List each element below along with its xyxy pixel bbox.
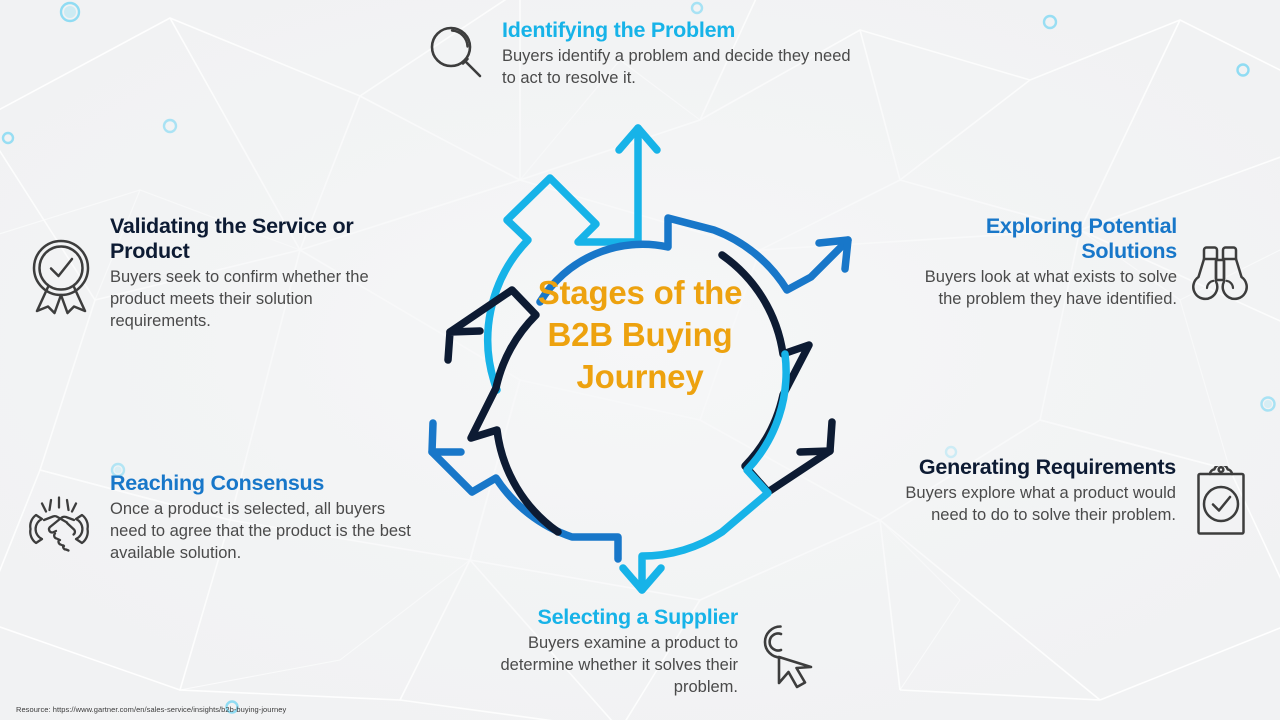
center-title-line-2: B2B Buying <box>490 314 790 356</box>
stage-title: Validating the Service or Product <box>110 214 378 264</box>
stage-description: Once a product is selected, all buyers n… <box>110 499 422 565</box>
cursor-click-icon <box>757 612 837 692</box>
stage-description: Buyers look at what exists to solve the … <box>905 267 1177 311</box>
handshake-icon <box>22 493 96 555</box>
wheel-segment-reaching <box>432 423 618 559</box>
stage-title: Identifying the Problem <box>502 18 862 43</box>
stage-exploring-potential-solutions: Exploring Potential Solutions Buyers loo… <box>905 214 1177 311</box>
stage-description: Buyers seek to confirm whether the produ… <box>110 267 378 333</box>
stage-reaching-consensus: Reaching Consensus Once a product is sel… <box>110 471 422 565</box>
award-check-icon <box>28 237 94 315</box>
stage-identifying-the-problem: Identifying the Problem Buyers identify … <box>502 18 862 90</box>
stage-description: Buyers explore what a product would need… <box>878 483 1176 527</box>
stage-title: Generating Requirements <box>878 455 1176 480</box>
clipboard-check-icon <box>1192 466 1250 540</box>
binoculars-icon <box>1188 243 1252 301</box>
center-title-line-1: Stages of the <box>490 272 790 314</box>
magnifier-icon <box>426 22 488 84</box>
stage-validating-the-service-or-product: Validating the Service or Product Buyers… <box>110 214 378 333</box>
stage-selecting-a-supplier: Selecting a Supplier Buyers examine a pr… <box>455 605 738 699</box>
center-title-line-3: Journey <box>490 356 790 398</box>
stage-description: Buyers identify a problem and decide the… <box>502 46 862 90</box>
center-title: Stages of the B2B Buying Journey <box>490 272 790 399</box>
source-footer: Resource: https://www.gartner.com/en/sal… <box>16 705 286 714</box>
infographic-canvas: Stages of the B2B Buying Journey Identif… <box>0 0 1280 720</box>
stage-title: Reaching Consensus <box>110 471 422 496</box>
stage-generating-requirements: Generating Requirements Buyers explore w… <box>878 455 1176 527</box>
stage-title: Exploring Potential Solutions <box>905 214 1177 264</box>
stage-title: Selecting a Supplier <box>455 605 738 630</box>
stage-description: Buyers examine a product to determine wh… <box>455 633 738 699</box>
